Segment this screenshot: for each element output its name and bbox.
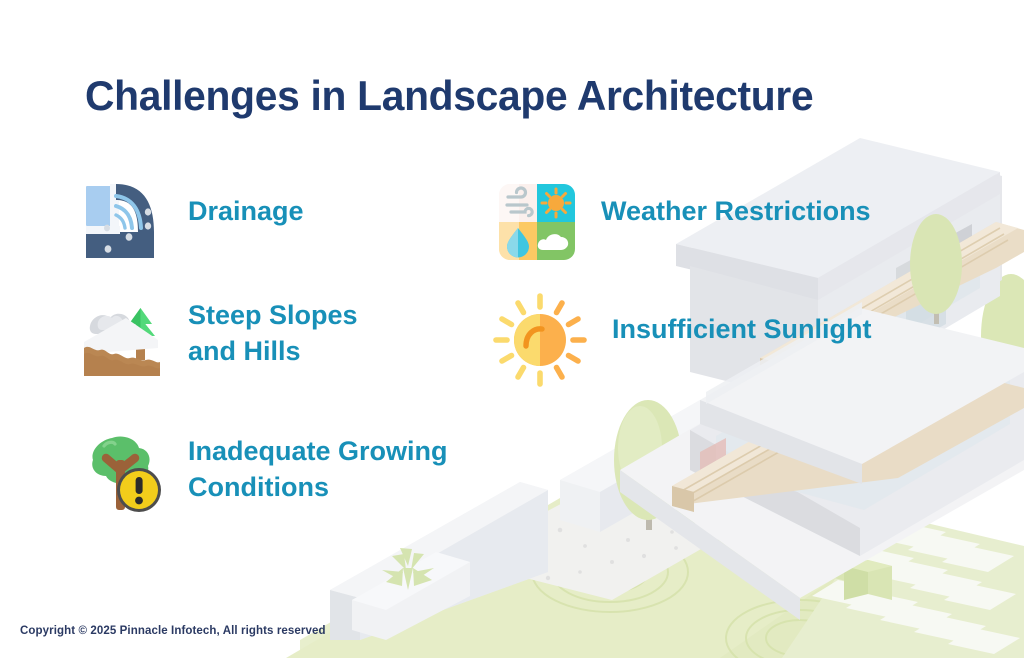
weather-quadrant-icon [495, 180, 579, 264]
sun-icon [490, 290, 590, 390]
page-title: Challenges in Landscape Architecture [85, 72, 813, 120]
copyright-text: Copyright © 2025 Pinnacle Infotech, All … [20, 625, 326, 637]
slide-canvas: Challenges in Landscape Architecture [0, 0, 1024, 658]
challenge-label-weather-restrictions: Weather Restrictions [579, 180, 871, 230]
drainage-pipe-icon [82, 180, 166, 264]
challenge-item-inadequate-growing-conditions[interactable]: Inadequate Growing Conditions [82, 432, 448, 516]
challenge-item-steep-slopes-and-hills[interactable]: Steep Slopes and Hills [82, 296, 358, 380]
hill-slope-icon [82, 296, 166, 380]
challenge-label-inadequate-growing: Inadequate Growing Conditions [166, 432, 448, 506]
challenge-label-drainage: Drainage [166, 180, 304, 230]
challenge-label-insufficient-sunlight: Insufficient Sunlight [590, 290, 871, 348]
slide-content: Challenges in Landscape Architecture [0, 0, 1024, 658]
challenge-item-insufficient-sunlight[interactable]: Insufficient Sunlight [490, 290, 871, 390]
tree-warning-icon [82, 432, 166, 516]
challenge-label-steep-slopes: Steep Slopes and Hills [166, 296, 358, 370]
challenge-item-drainage[interactable]: Drainage [82, 180, 304, 264]
challenge-item-weather-restrictions[interactable]: Weather Restrictions [495, 180, 871, 264]
